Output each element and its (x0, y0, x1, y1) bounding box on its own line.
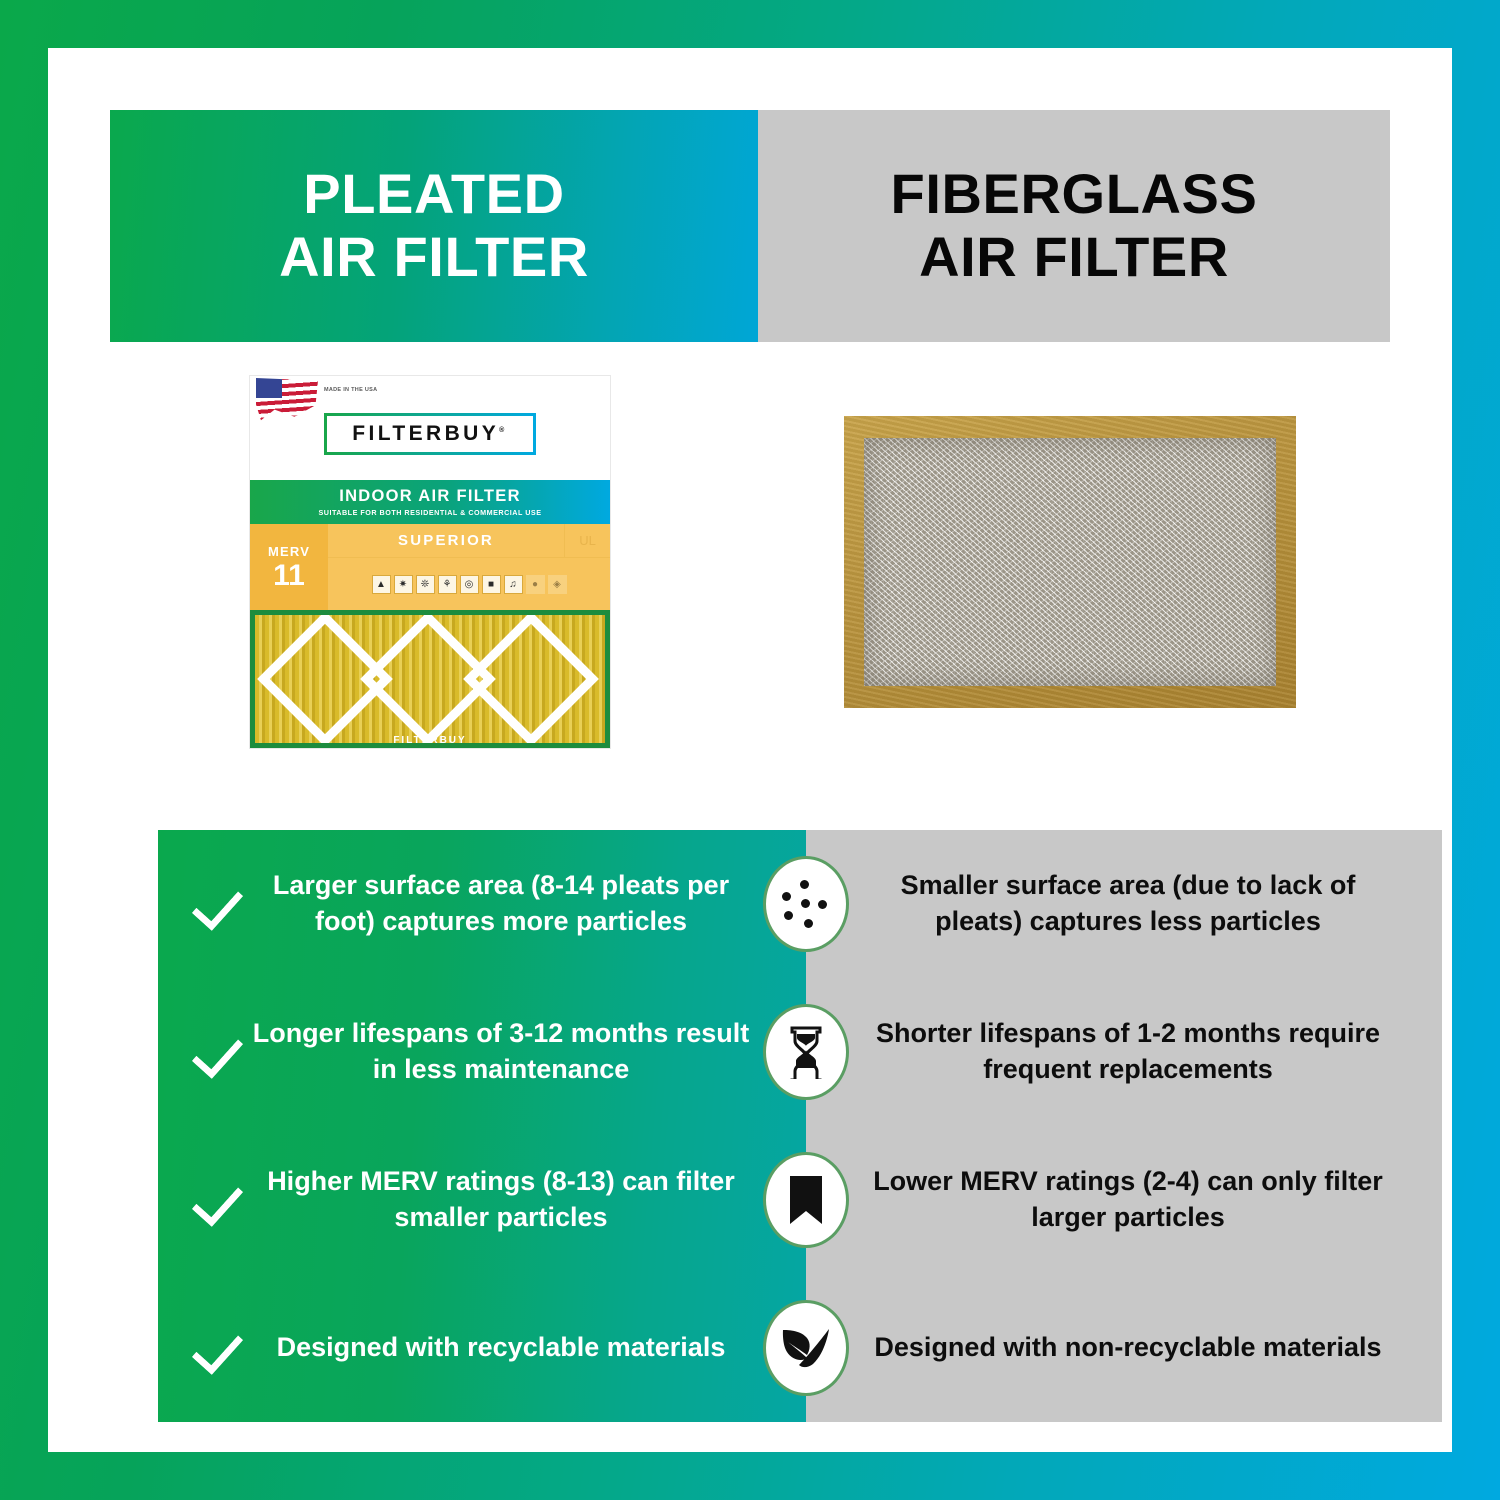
virus-icon-disabled: ◈ (548, 575, 567, 594)
made-in-usa-label: MADE IN THE USA (324, 386, 377, 394)
box-band-title: INDOOR AIR FILTER (339, 487, 521, 506)
comparison-right-text: Designed with non-recyclable materials (806, 1330, 1442, 1366)
comparison-left-text: Larger surface area (8-14 pleats per foo… (250, 868, 752, 939)
comparison-rows: Larger surface area (8-14 pleats per foo… (158, 830, 1442, 1422)
header-pleated: PLEATED AIR FILTER (110, 110, 758, 342)
brand-name-text: FILTERBUY (352, 422, 499, 445)
checkmark-icon (192, 1319, 250, 1377)
brand-trademark-icon: ® (499, 427, 508, 434)
comparison-left-text: Higher MERV ratings (8-13) can filter sm… (250, 1164, 752, 1235)
pollen-icon: ❊ (416, 575, 435, 594)
dust-icon: ▲ (372, 575, 391, 594)
header-fiberglass-title: FIBERGLASS AIR FILTER (891, 163, 1258, 288)
merv-label: MERV (268, 544, 310, 559)
pleat-texture (255, 615, 605, 743)
bacteria-icon: ◎ (460, 575, 479, 594)
box-brand-header: MADE IN THE USA FILTERBUY® (250, 376, 610, 480)
comparison-right-text: Shorter lifespans of 1-2 months require … (806, 1016, 1442, 1087)
comparison-row-left: Higher MERV ratings (8-13) can filter sm… (158, 1164, 806, 1235)
pleated-media-area: FILTERBUY (250, 610, 610, 748)
checkmark-icon (192, 1171, 250, 1229)
frame-brand-label: FILTERBUY (250, 735, 610, 746)
box-band-subtitle: SUITABLE FOR BOTH RESIDENTIAL & COMMERCI… (318, 508, 541, 517)
box-merv-section: MERV 11 SUPERIOR UL ▲ ✷ ❊ (250, 524, 610, 610)
particles-icon (763, 856, 849, 952)
merv-badge: MERV 11 (250, 524, 328, 610)
support-diamond (463, 615, 599, 743)
header-band: PLEATED AIR FILTER FIBERGLASS AIR FILTER (110, 110, 1390, 342)
mold-icon: ⚘ (438, 575, 457, 594)
comparison-panel: Larger surface area (8-14 pleats per foo… (158, 830, 1442, 1422)
white-canvas: PLEATED AIR FILTER FIBERGLASS AIR FILTER… (48, 48, 1452, 1452)
comparison-right-text: Smaller surface area (due to lack of ple… (806, 868, 1442, 939)
fiberglass-filter-image (844, 416, 1296, 708)
fiberglass-product-cell (750, 342, 1390, 782)
box-tier-row: SUPERIOR UL (328, 524, 610, 558)
comparison-left-text: Longer lifespans of 3-12 months result i… (250, 1016, 752, 1087)
comparison-right-text: Lower MERV ratings (2-4) can only filter… (806, 1164, 1442, 1235)
bookmark-icon (763, 1152, 849, 1248)
insect-icon: ✷ (394, 575, 413, 594)
brand-name: FILTERBUY® (352, 422, 507, 446)
comparison-row: Higher MERV ratings (8-13) can filter sm… (158, 1126, 1442, 1274)
usa-flag-icon (256, 378, 318, 422)
comparison-row-left: Longer lifespans of 3-12 months result i… (158, 1016, 806, 1087)
pleated-product-cell: MADE IN THE USA FILTERBUY® INDOOR AIR FI… (110, 342, 750, 782)
leaf-icon (763, 1300, 849, 1396)
pet-dander-icon: ■ (482, 575, 501, 594)
fiberglass-mesh-texture (864, 438, 1276, 686)
comparison-row: Designed with recyclable materials Desig… (158, 1274, 1442, 1422)
odor-icon-disabled: ● (526, 575, 545, 594)
pleated-filter-box-image: MADE IN THE USA FILTERBUY® INDOOR AIR FI… (250, 376, 610, 748)
box-product-band: INDOOR AIR FILTER SUITABLE FOR BOTH RESI… (250, 480, 610, 524)
merv-value: 11 (273, 561, 305, 591)
checkmark-icon (192, 875, 250, 933)
smoke-icon: ♫ (504, 575, 523, 594)
ul-certification-icon: UL (564, 524, 610, 558)
particles-dots (780, 878, 832, 930)
checkmark-icon (192, 1023, 250, 1081)
box-tier-column: SUPERIOR UL ▲ ✷ ❊ ⚘ ◎ ■ ♫ (328, 524, 610, 610)
header-fiberglass: FIBERGLASS AIR FILTER (758, 110, 1390, 342)
infographic-root: PLEATED AIR FILTER FIBERGLASS AIR FILTER… (0, 0, 1500, 1500)
header-fiberglass-line2: AIR FILTER (919, 225, 1229, 288)
feature-icon-strip: ▲ ✷ ❊ ⚘ ◎ ■ ♫ ● ◈ (328, 558, 610, 610)
tier-label: SUPERIOR (328, 532, 564, 549)
product-image-row: MADE IN THE USA FILTERBUY® INDOOR AIR FI… (110, 342, 1390, 782)
comparison-row-left: Designed with recyclable materials (158, 1319, 806, 1377)
header-pleated-title: PLEATED AIR FILTER (279, 163, 589, 288)
comparison-row: Longer lifespans of 3-12 months result i… (158, 978, 1442, 1126)
header-fiberglass-line1: FIBERGLASS (891, 162, 1258, 225)
comparison-row-left: Larger surface area (8-14 pleats per foo… (158, 868, 806, 939)
brand-logo-frame: FILTERBUY® (324, 413, 536, 455)
comparison-left-text: Designed with recyclable materials (250, 1330, 752, 1366)
header-pleated-line2: AIR FILTER (279, 225, 589, 288)
hourglass-icon (763, 1004, 849, 1100)
header-pleated-line1: PLEATED (303, 162, 564, 225)
comparison-row: Larger surface area (8-14 pleats per foo… (158, 830, 1442, 978)
